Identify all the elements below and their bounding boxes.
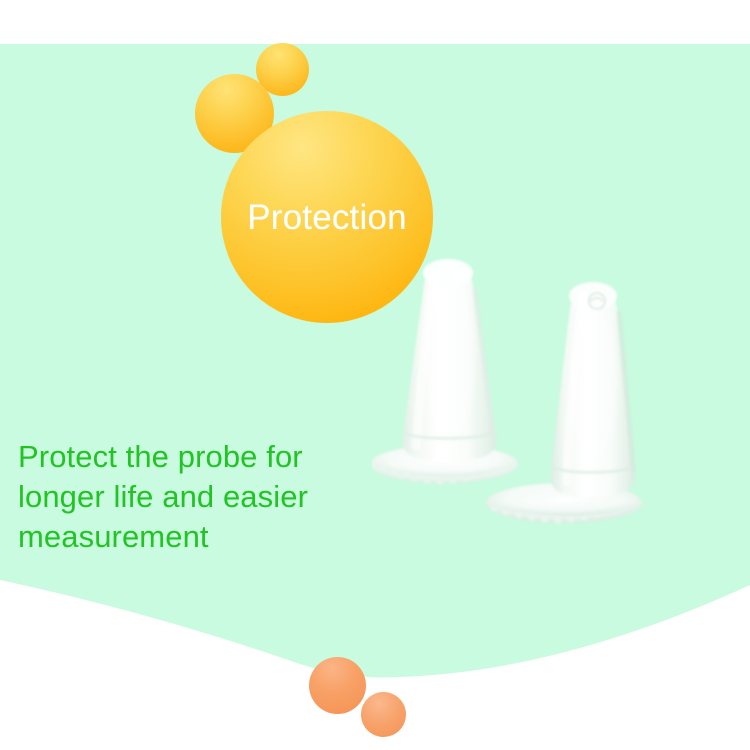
accent-bubble-salmon-small bbox=[361, 692, 406, 737]
accent-bubble-salmon-large bbox=[309, 657, 366, 714]
product-feature-banner: Protection bbox=[0, 0, 750, 750]
feature-headline: Protect the probe for longer life and ea… bbox=[18, 437, 368, 557]
protection-badge-label: Protection bbox=[247, 200, 407, 235]
product-photo-probe-covers bbox=[372, 258, 672, 526]
